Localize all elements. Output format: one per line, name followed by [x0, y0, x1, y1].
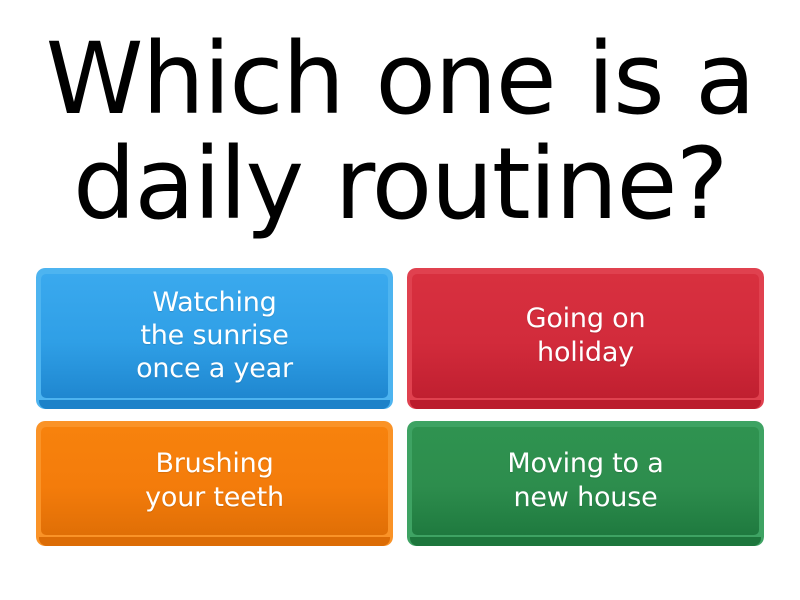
answer-option-1-label: Watching the sunrise once a year [36, 268, 393, 409]
answer-option-2[interactable]: Going on holiday [407, 268, 764, 409]
answer-option-2-label: Going on holiday [407, 268, 764, 409]
answer-options-grid: Watching the sunrise once a year Going o… [36, 268, 757, 546]
answer-option-4-label: Moving to a new house [407, 421, 764, 546]
answer-option-3-label: Brushing your teeth [36, 421, 393, 546]
page-title: Which one is a daily routine? [30, 28, 770, 238]
answer-option-1[interactable]: Watching the sunrise once a year [36, 268, 393, 409]
quiz-screen: Which one is a daily routine? Watching t… [0, 0, 800, 600]
answer-option-4[interactable]: Moving to a new house [407, 421, 764, 546]
answer-option-3[interactable]: Brushing your teeth [36, 421, 393, 546]
question-area: Which one is a daily routine? [0, 14, 800, 252]
